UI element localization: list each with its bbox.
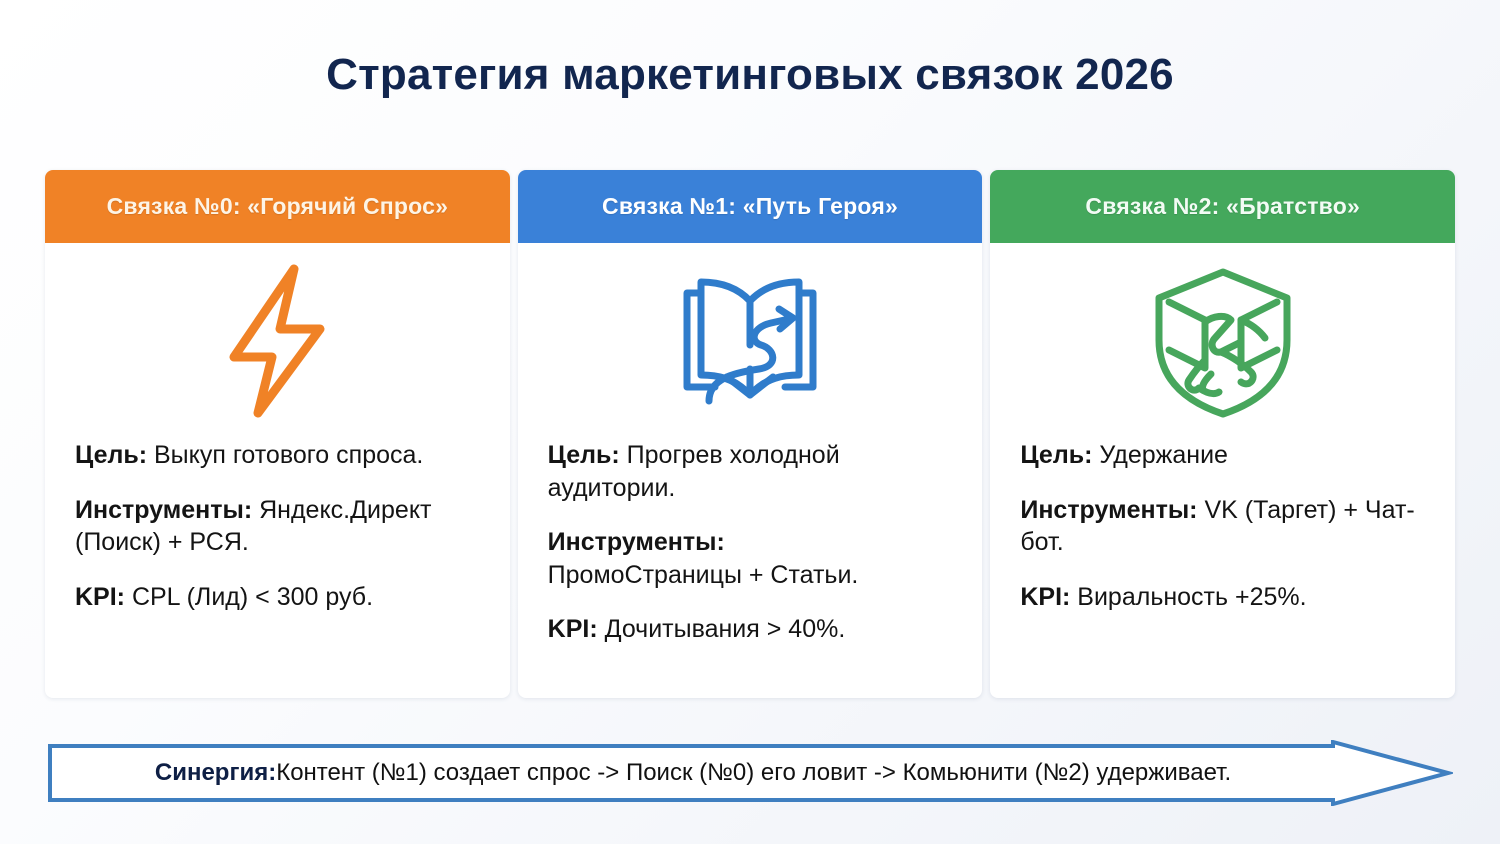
lightning-bolt-icon bbox=[45, 243, 510, 439]
card-body-hero-path: Цель: Прогрев холодной аудитории. Инстру… bbox=[518, 439, 983, 698]
goal-line: Цель: Прогрев холодной аудитории. bbox=[548, 439, 953, 504]
page-title: Стратегия маркетинговых связок 2026 bbox=[326, 50, 1174, 100]
kpi-line: KPI: Дочитывания > 40%. bbox=[548, 613, 953, 646]
card-header-hero-path: Связка №1: «Путь Героя» bbox=[518, 170, 983, 243]
tools-label: Инструменты: bbox=[548, 528, 725, 556]
kpi-value: CPL (Лид) < 300 руб. bbox=[125, 583, 373, 611]
slide-root: Стратегия маркетинговых связок 2026 Связ… bbox=[0, 0, 1500, 844]
card-header-brotherhood: Связка №2: «Братство» bbox=[990, 170, 1455, 243]
open-book-path-icon bbox=[518, 243, 983, 439]
tools-line: Инструменты: VK (Таргет) + Чат-бот. bbox=[1020, 494, 1425, 559]
shield-handshake-icon bbox=[990, 243, 1455, 439]
kpi-label: KPI: bbox=[548, 615, 598, 643]
card-body-hot-demand: Цель: Выкуп готового спроса. Инструменты… bbox=[45, 439, 510, 698]
kpi-label: KPI: bbox=[75, 583, 125, 611]
goal-label: Цель: bbox=[75, 441, 147, 469]
tools-label: Инструменты: bbox=[1020, 496, 1197, 524]
title-area: Стратегия маркетинговых связок 2026 bbox=[0, 0, 1500, 150]
goal-value: Удержание bbox=[1092, 441, 1228, 469]
synergy-banner: Синергия: Контент (№1) создает спрос -> … bbox=[48, 740, 1453, 806]
kpi-label: KPI: bbox=[1020, 583, 1070, 611]
goal-line: Цель: Удержание bbox=[1020, 439, 1425, 472]
strategy-card-hero-path[interactable]: Связка №1: «Путь Героя» bbox=[518, 170, 983, 698]
synergy-arrow-shape bbox=[48, 740, 1453, 806]
goal-label: Цель: bbox=[1020, 441, 1092, 469]
kpi-value: Дочитывания > 40%. bbox=[598, 615, 846, 643]
strategy-card-hot-demand[interactable]: Связка №0: «Горячий Спрос» Цель: Выкуп г… bbox=[45, 170, 510, 698]
card-header-hot-demand: Связка №0: «Горячий Спрос» bbox=[45, 170, 510, 243]
tools-line: Инструменты: ПромоСтраницы + Статьи. bbox=[548, 526, 953, 591]
goal-line: Цель: Выкуп готового спроса. bbox=[75, 439, 480, 472]
strategy-columns: Связка №0: «Горячий Спрос» Цель: Выкуп г… bbox=[45, 170, 1455, 698]
goal-value: Выкуп готового спроса. bbox=[147, 441, 423, 469]
tools-value: ПромоСтраницы + Статьи. bbox=[548, 561, 859, 589]
card-body-brotherhood: Цель: Удержание Инструменты: VK (Таргет)… bbox=[990, 439, 1455, 698]
strategy-card-brotherhood[interactable]: Связка №2: «Братство» bbox=[990, 170, 1455, 698]
kpi-value: Виральность +25%. bbox=[1070, 583, 1306, 611]
kpi-line: KPI: CPL (Лид) < 300 руб. bbox=[75, 581, 480, 614]
tools-line: Инструменты: Яндекс.Директ (Поиск) + РСЯ… bbox=[75, 494, 480, 559]
tools-label: Инструменты: bbox=[75, 496, 252, 524]
goal-label: Цель: bbox=[548, 441, 620, 469]
kpi-line: KPI: Виральность +25%. bbox=[1020, 581, 1425, 614]
